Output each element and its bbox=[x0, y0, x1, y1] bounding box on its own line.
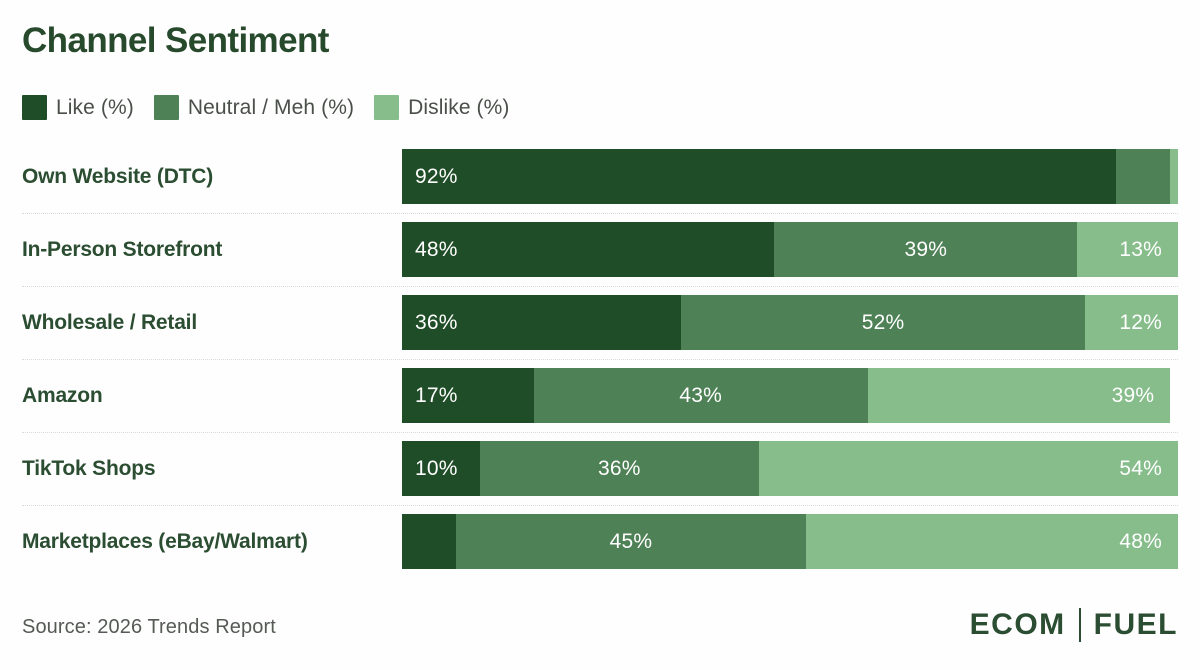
bar-segment-value: 39% bbox=[904, 238, 947, 262]
legend-item-0[interactable]: Like (%) bbox=[22, 95, 134, 120]
bar-segment[interactable]: 10% bbox=[402, 441, 480, 496]
chart-row: TikTok Shops10%36%54% bbox=[0, 432, 1200, 505]
category-label: TikTok Shops bbox=[22, 432, 155, 505]
brand-word-ecom: ECOM bbox=[970, 610, 1066, 640]
row-separator bbox=[22, 432, 1178, 433]
stacked-bar: 92%7%1% bbox=[402, 149, 1178, 204]
legend-label-2: Dislike (%) bbox=[408, 96, 509, 120]
bar-segment-value: 36% bbox=[402, 311, 458, 335]
bar-segment-value: 17% bbox=[402, 384, 458, 408]
category-label: Wholesale / Retail bbox=[22, 286, 197, 359]
bar-segment[interactable]: 48% bbox=[402, 222, 774, 277]
bar-segment[interactable]: 36% bbox=[480, 441, 759, 496]
brand-divider bbox=[1079, 608, 1081, 642]
stacked-bar: 48%39%13% bbox=[402, 222, 1178, 277]
bar-segment[interactable]: 7% bbox=[402, 514, 456, 569]
bar-segment[interactable]: 92% bbox=[402, 149, 1116, 204]
chart-row: Marketplaces (eBay/Walmart)7%45%48% bbox=[0, 505, 1200, 578]
chart-row: Amazon17%43%39% bbox=[0, 359, 1200, 432]
bar-segment[interactable]: 45% bbox=[456, 514, 805, 569]
bar-segment-value: 92% bbox=[402, 165, 458, 189]
brand-logo: ECOM FUEL bbox=[970, 608, 1178, 642]
bar-segment-value: 43% bbox=[679, 384, 722, 408]
bar-segment-value: 10% bbox=[402, 457, 458, 481]
chart-plot-area: Own Website (DTC)92%7%1%In-Person Storef… bbox=[0, 140, 1200, 578]
bar-segment[interactable]: 43% bbox=[534, 368, 868, 423]
bar-segment-value: 48% bbox=[402, 238, 458, 262]
chart-row: Wholesale / Retail36%52%12% bbox=[0, 286, 1200, 359]
category-label: Amazon bbox=[22, 359, 102, 432]
bar-segment-value: 54% bbox=[1119, 457, 1178, 481]
chart-legend: Like (%)Neutral / Meh (%)Dislike (%) bbox=[22, 95, 510, 120]
bar-segment[interactable]: 54% bbox=[759, 441, 1178, 496]
bar-segment[interactable]: 17% bbox=[402, 368, 534, 423]
legend-item-1[interactable]: Neutral / Meh (%) bbox=[154, 95, 354, 120]
bar-segment[interactable]: 48% bbox=[806, 514, 1178, 569]
page-title: Channel Sentiment bbox=[22, 20, 329, 62]
bar-segment-value: 52% bbox=[862, 311, 905, 335]
stacked-bar: 7%45%48% bbox=[402, 514, 1178, 569]
bar-segment[interactable]: 1% bbox=[1170, 149, 1178, 204]
chart-row: In-Person Storefront48%39%13% bbox=[0, 213, 1200, 286]
chart-canvas: Channel Sentiment Like (%)Neutral / Meh … bbox=[0, 0, 1200, 670]
legend-swatch-neutral bbox=[154, 95, 179, 120]
stacked-bar: 17%43%39% bbox=[402, 368, 1178, 423]
bar-segment[interactable]: 7% bbox=[1116, 149, 1170, 204]
bar-segment-value: 12% bbox=[1119, 311, 1178, 335]
category-label: Marketplaces (eBay/Walmart) bbox=[22, 505, 308, 578]
category-label: In-Person Storefront bbox=[22, 213, 222, 286]
legend-swatch-dislike bbox=[374, 95, 399, 120]
stacked-bar: 36%52%12% bbox=[402, 295, 1178, 350]
bar-segment[interactable]: 12% bbox=[1085, 295, 1178, 350]
bar-segment[interactable]: 39% bbox=[868, 368, 1171, 423]
stacked-bar: 10%36%54% bbox=[402, 441, 1178, 496]
bar-segment[interactable]: 39% bbox=[774, 222, 1077, 277]
bar-segment-value: 45% bbox=[610, 530, 653, 554]
legend-swatch-like bbox=[22, 95, 47, 120]
bar-segment[interactable]: 13% bbox=[1077, 222, 1178, 277]
legend-item-2[interactable]: Dislike (%) bbox=[374, 95, 509, 120]
bar-segment-value: 36% bbox=[598, 457, 641, 481]
legend-label-0: Like (%) bbox=[56, 96, 134, 120]
chart-row: Own Website (DTC)92%7%1% bbox=[0, 140, 1200, 213]
bar-segment-value: 39% bbox=[1112, 384, 1171, 408]
row-separator bbox=[22, 359, 1178, 360]
source-note: Source: 2026 Trends Report bbox=[22, 616, 276, 639]
legend-label-1: Neutral / Meh (%) bbox=[188, 96, 354, 120]
bar-segment[interactable]: 52% bbox=[681, 295, 1085, 350]
bar-segment[interactable]: 36% bbox=[402, 295, 681, 350]
brand-word-fuel: FUEL bbox=[1094, 610, 1178, 640]
category-label: Own Website (DTC) bbox=[22, 140, 213, 213]
bar-segment-value: 13% bbox=[1119, 238, 1178, 262]
bar-segment-value: 48% bbox=[1119, 530, 1178, 554]
